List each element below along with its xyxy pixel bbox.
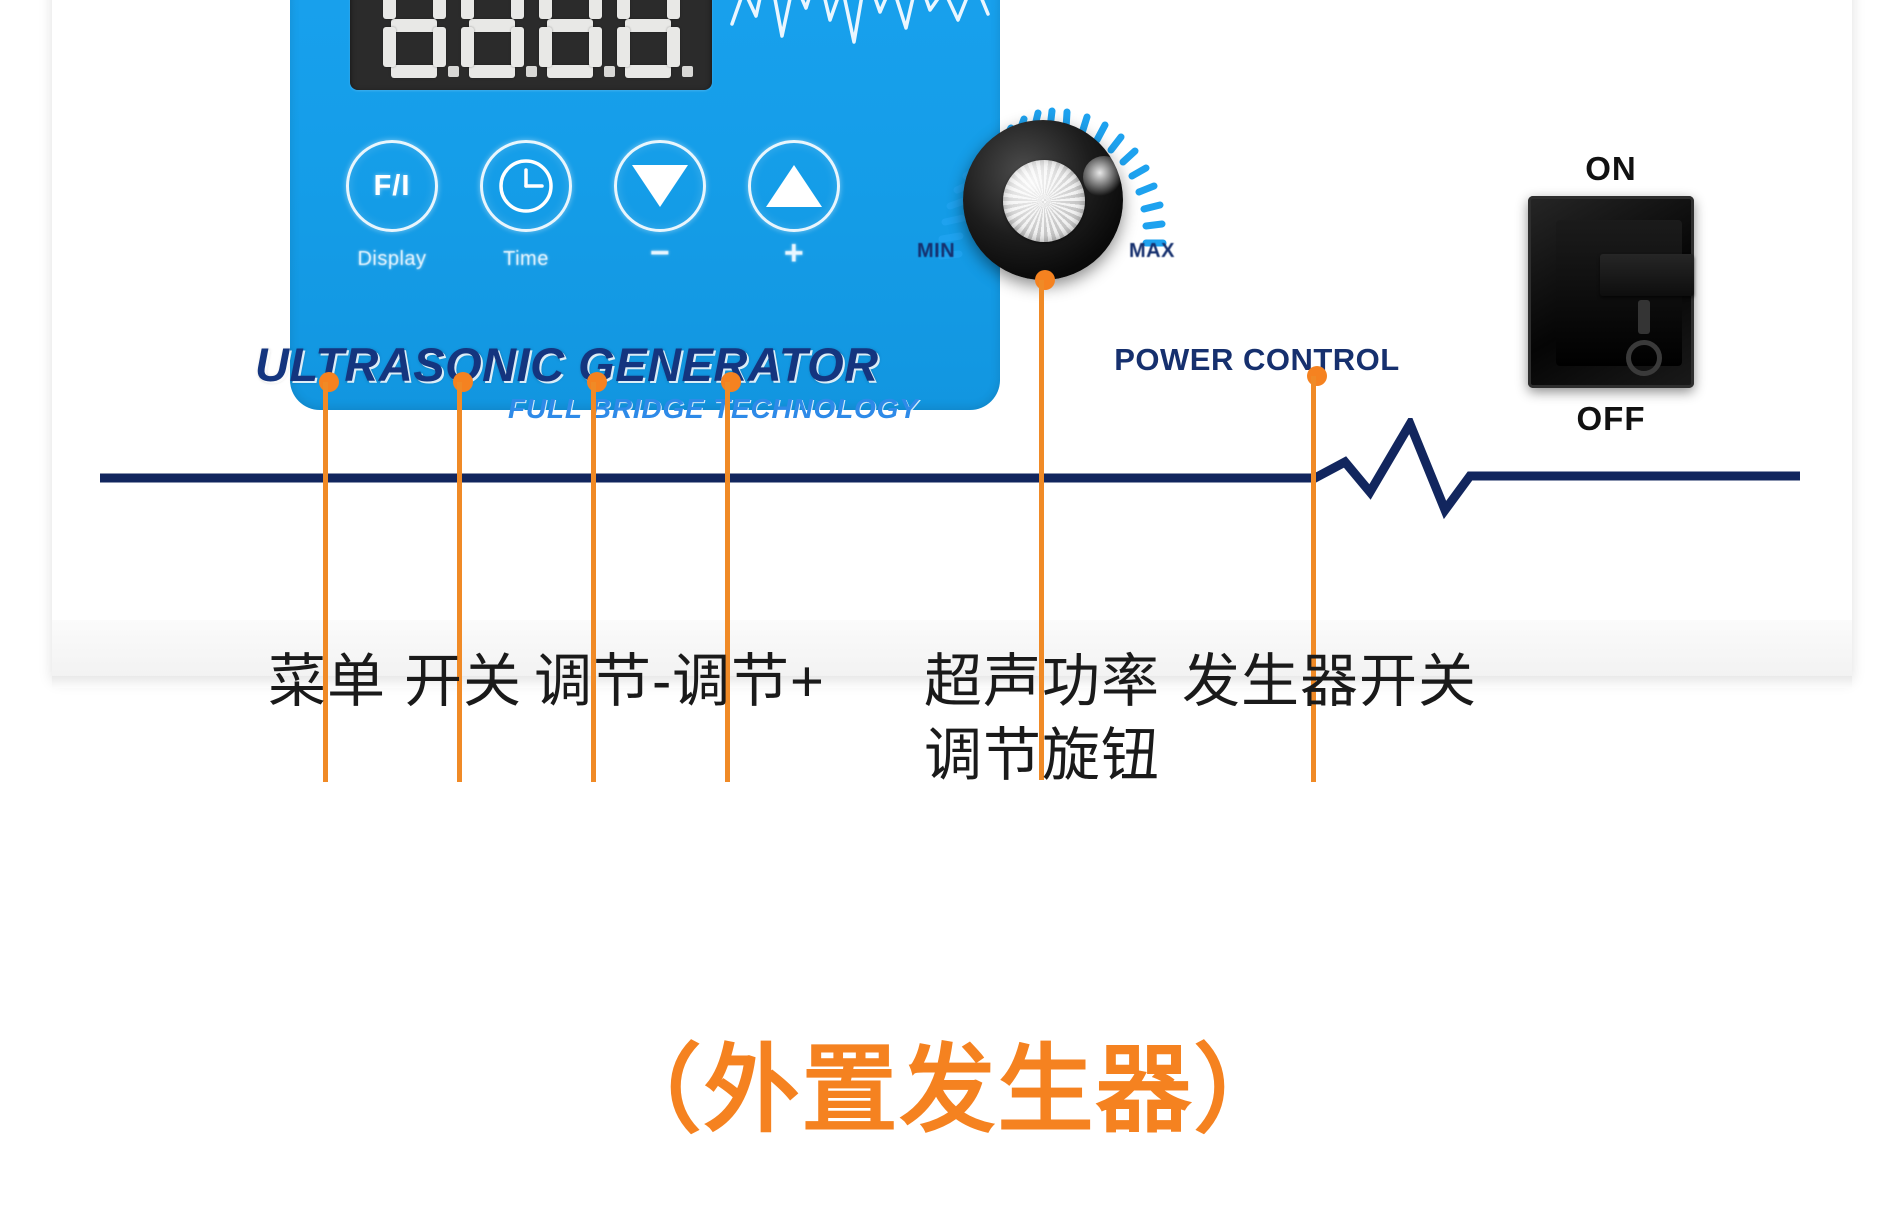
button-menu-fi[interactable]: F/I [346, 140, 438, 232]
seven-segment-display: 8.8.8.8. [350, 0, 712, 90]
leader-line-switch [457, 382, 462, 782]
generator-power-switch[interactable]: ON OFF [1520, 196, 1710, 436]
leader-line-increase [725, 382, 730, 782]
triangle-up-icon [766, 165, 822, 207]
switch-on-label: ON [1528, 150, 1694, 188]
leader-dot-power-knob [1035, 270, 1055, 290]
button-decrease[interactable] [614, 140, 706, 232]
callout-power-knob-line1: 超声功率 [924, 648, 1160, 716]
button-increase[interactable] [748, 140, 840, 232]
callout-switch: 开关 [404, 648, 522, 716]
button-timer[interactable] [480, 140, 572, 232]
leader-dot-decrease [587, 372, 607, 392]
button-menu-sublabel: Display [322, 248, 462, 271]
callout-menu: 菜单 [268, 648, 386, 716]
callout-gen-switch: 发生器开关 [1182, 648, 1477, 716]
power-control-knob[interactable]: MIN MAX [915, 78, 1175, 328]
clock-icon [497, 157, 555, 215]
leader-dot-switch [453, 372, 473, 392]
button-timer-sublabel: Time [456, 248, 596, 271]
switch-rocker[interactable] [1556, 220, 1682, 366]
callout-decrease: 调节- [534, 648, 672, 716]
bottom-caption: （外置发生器） [0, 1012, 1897, 1151]
brand-subtitle: FULL BRIDGE TECHNOLOGY [508, 393, 919, 425]
callout-power-knob-line2: 调节旋钮 [924, 722, 1160, 790]
display-digit [533, 0, 607, 79]
power-control-label: POWER CONTROL [1112, 342, 1402, 378]
infographic-stage: 8.8.8.8. F/I Display Time − + [0, 0, 1897, 1206]
power-bar-icon [1638, 300, 1650, 334]
display-digit [611, 0, 685, 79]
knob-min-label: MIN [917, 240, 955, 263]
switch-rocker-top-face [1600, 254, 1694, 296]
display-digit [455, 0, 529, 79]
power-circle-icon [1626, 340, 1662, 376]
display-digit [377, 0, 451, 79]
knob-cap-highlight [1003, 160, 1085, 242]
f-over-i-text: F/I [374, 170, 411, 203]
switch-off-label: OFF [1528, 400, 1694, 438]
knob-max-label: MAX [1129, 240, 1175, 263]
leader-line-menu [323, 382, 328, 782]
triangle-down-icon [632, 165, 688, 207]
leader-line-decrease [591, 382, 596, 782]
leader-dot-gen-switch [1307, 366, 1327, 386]
callout-increase: 调节+ [672, 648, 825, 716]
leader-line-gen-switch [1311, 376, 1316, 782]
button-decrease-sublabel: − [590, 234, 730, 273]
panel-waveform-icon [730, 0, 990, 60]
leader-dot-increase [721, 372, 741, 392]
brand-title: ULTRASONIC GENERATOR [255, 337, 879, 392]
knob-gloss-highlight [1083, 156, 1125, 198]
switch-frame[interactable] [1528, 196, 1694, 388]
leader-dot-menu [319, 372, 339, 392]
button-increase-sublabel: + [724, 234, 864, 273]
